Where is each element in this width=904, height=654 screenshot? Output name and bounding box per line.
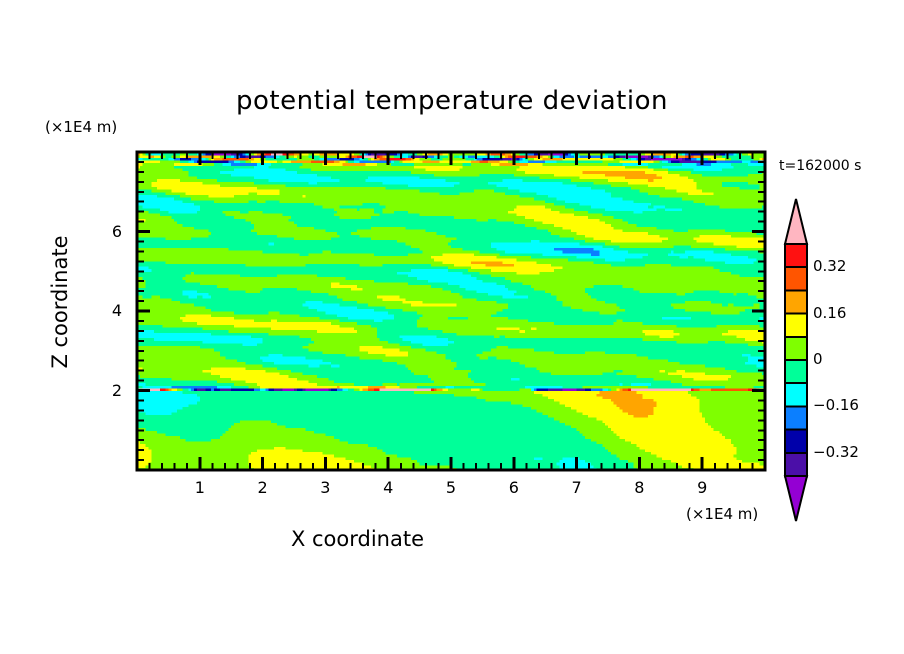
x-tick-label-7: 7 — [557, 478, 597, 497]
contour-plot — [0, 0, 904, 654]
colorbar-label-3: −0.16 — [813, 396, 859, 414]
x-tick-label-1: 1 — [180, 478, 220, 497]
x-tick-label-3: 3 — [305, 478, 345, 497]
y-tick-label-6: 6 — [96, 222, 122, 241]
x-tick-label-4: 4 — [368, 478, 408, 497]
colorbar — [785, 199, 807, 521]
x-tick-label-5: 5 — [431, 478, 471, 497]
y-tick-label-4: 4 — [96, 301, 122, 320]
colorbar-label-1: 0.16 — [813, 304, 846, 322]
plot-canvas: potential temperature deviation (×1E4 m)… — [0, 0, 904, 654]
x-tick-label-8: 8 — [619, 478, 659, 497]
x-tick-label-2: 2 — [243, 478, 283, 497]
colorbar-label-0: 0.32 — [813, 257, 846, 275]
colorbar-label-4: −0.32 — [813, 443, 859, 461]
x-tick-label-6: 6 — [494, 478, 534, 497]
contour-field — [137, 152, 766, 471]
x-tick-label-9: 9 — [682, 478, 722, 497]
y-tick-label-2: 2 — [96, 381, 122, 400]
colorbar-label-2: 0 — [813, 350, 823, 368]
